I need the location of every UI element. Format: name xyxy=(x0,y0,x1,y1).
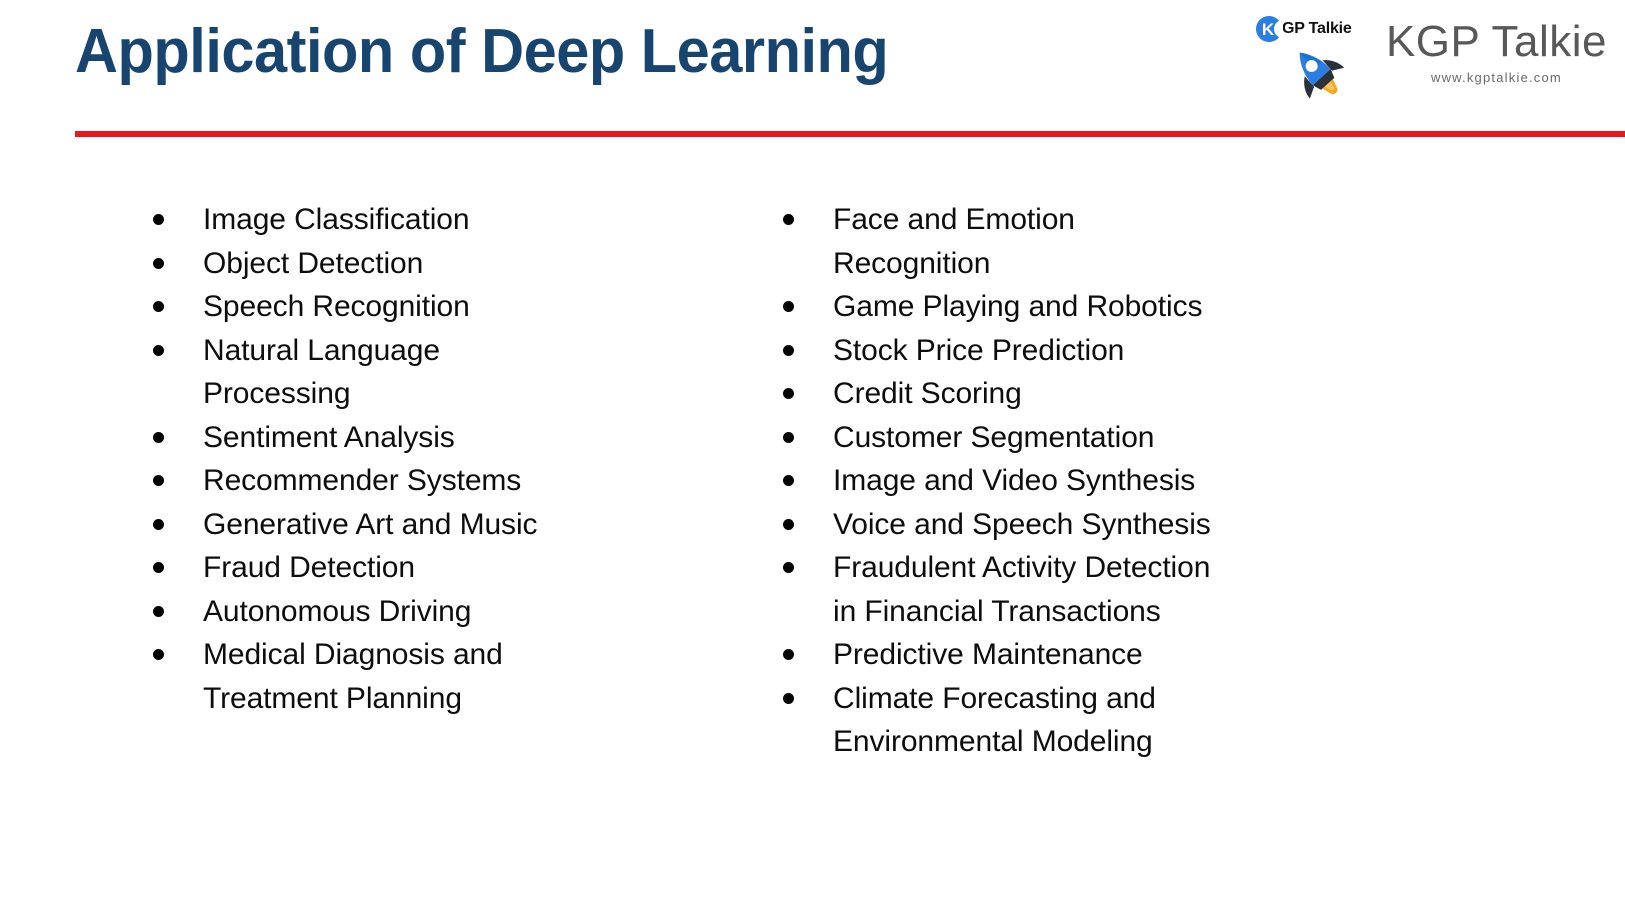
right-bullet-list: Face and Emotion Recognition Game Playin… xyxy=(778,198,1540,764)
brand-badge-row: K GP Talkie xyxy=(1256,16,1352,42)
list-item-label: Natural Language Processing xyxy=(203,329,553,416)
bullet-dot-icon xyxy=(783,214,794,225)
list-item: Natural Language Processing xyxy=(148,329,760,416)
list-item-label: Image and Video Synthesis xyxy=(833,459,1233,503)
bullet-dot-icon xyxy=(153,345,164,356)
list-item: Face and Emotion Recognition xyxy=(778,198,1540,285)
bullet-dot-icon xyxy=(783,519,794,530)
bullet-dot-icon xyxy=(153,258,164,269)
right-column: Face and Emotion Recognition Game Playin… xyxy=(760,198,1540,764)
brand-badge-text: GP Talkie xyxy=(1282,20,1352,38)
list-item: Generative Art and Music xyxy=(148,503,760,547)
list-item: Climate Forecasting and Environmental Mo… xyxy=(778,677,1540,764)
page-title: Application of Deep Learning xyxy=(75,18,888,86)
bullet-dot-icon xyxy=(783,562,794,573)
bullet-dot-icon xyxy=(153,562,164,573)
bullet-dot-icon xyxy=(153,606,164,617)
brand-website-url: www.kgptalkie.com xyxy=(1431,70,1562,85)
list-item-label: Image Classification xyxy=(203,198,553,242)
rocket-icon xyxy=(1284,42,1350,102)
bullet-dot-icon xyxy=(153,432,164,443)
bullet-dot-icon xyxy=(783,432,794,443)
list-item: Autonomous Driving xyxy=(148,590,760,634)
list-item-label: Autonomous Driving xyxy=(203,590,553,634)
left-bullet-list: Image Classification Object Detection Sp… xyxy=(148,198,760,720)
list-item-label: Stock Price Prediction xyxy=(833,329,1233,373)
list-item-label: Fraudulent Activity Detection in Financi… xyxy=(833,546,1233,633)
brand-badge-letter: K xyxy=(1262,21,1274,38)
list-item: Game Playing and Robotics xyxy=(778,285,1540,329)
brand-mark: K GP Talkie xyxy=(1256,12,1368,108)
slide-header: Application of Deep Learning K GP Talkie xyxy=(0,0,1625,140)
list-item: Recommender Systems xyxy=(148,459,760,503)
bullet-dot-icon xyxy=(153,519,164,530)
title-divider-rule xyxy=(75,131,1625,137)
list-item-label: Customer Segmentation xyxy=(833,416,1233,460)
left-column: Image Classification Object Detection Sp… xyxy=(0,198,760,764)
bullet-dot-icon xyxy=(153,475,164,486)
list-item: Fraudulent Activity Detection in Financi… xyxy=(778,546,1540,633)
list-item-label: Object Detection xyxy=(203,242,553,286)
list-item: Speech Recognition xyxy=(148,285,760,329)
list-item: Voice and Speech Synthesis xyxy=(778,503,1540,547)
list-item-label: Generative Art and Music xyxy=(203,503,553,547)
bullet-dot-icon xyxy=(783,301,794,312)
list-item-label: Sentiment Analysis xyxy=(203,416,553,460)
list-item: Predictive Maintenance xyxy=(778,633,1540,677)
bullet-dot-icon xyxy=(783,345,794,356)
list-item-label: Recommender Systems xyxy=(203,459,553,503)
brand-wordmark-block: KGP Talkie www.kgptalkie.com xyxy=(1386,12,1607,85)
list-item-label: Face and Emotion Recognition xyxy=(833,198,1233,285)
list-item-label: Speech Recognition xyxy=(203,285,553,329)
list-item: Credit Scoring xyxy=(778,372,1540,416)
bullet-dot-icon xyxy=(153,214,164,225)
list-item: Sentiment Analysis xyxy=(148,416,760,460)
list-item-label: Credit Scoring xyxy=(833,372,1233,416)
list-item-label: Climate Forecasting and Environmental Mo… xyxy=(833,677,1233,764)
list-item-label: Game Playing and Robotics xyxy=(833,285,1233,329)
list-item: Object Detection xyxy=(148,242,760,286)
list-item: Image and Video Synthesis xyxy=(778,459,1540,503)
brand-wordmark: KGP Talkie xyxy=(1386,20,1607,64)
bullet-dot-icon xyxy=(783,388,794,399)
list-item-label: Medical Diagnosis and Treatment Planning xyxy=(203,633,553,720)
slide: Application of Deep Learning K GP Talkie xyxy=(0,0,1625,899)
bullet-dot-icon xyxy=(783,475,794,486)
content-columns: Image Classification Object Detection Sp… xyxy=(0,198,1625,764)
kgp-badge-icon: K xyxy=(1256,16,1282,42)
bullet-dot-icon xyxy=(153,301,164,312)
list-item-label: Fraud Detection xyxy=(203,546,553,590)
list-item-label: Predictive Maintenance xyxy=(833,633,1233,677)
list-item: Customer Segmentation xyxy=(778,416,1540,460)
list-item-label: Voice and Speech Synthesis xyxy=(833,503,1233,547)
bullet-dot-icon xyxy=(783,693,794,704)
list-item: Medical Diagnosis and Treatment Planning xyxy=(148,633,760,720)
bullet-dot-icon xyxy=(783,649,794,660)
brand-logo: K GP Talkie xyxy=(1256,12,1607,108)
bullet-dot-icon xyxy=(153,649,164,660)
list-item: Fraud Detection xyxy=(148,546,760,590)
list-item: Stock Price Prediction xyxy=(778,329,1540,373)
list-item: Image Classification xyxy=(148,198,760,242)
